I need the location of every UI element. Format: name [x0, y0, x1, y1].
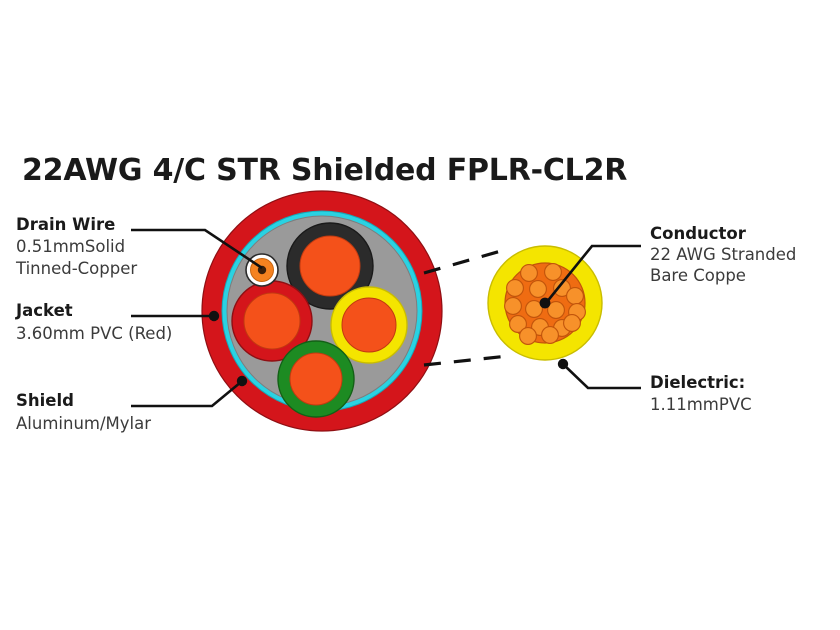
- jacket-line-1: 3.60mm PVC (Red): [16, 324, 172, 343]
- cable-cross-section-diagram: 22AWG 4/C STR Shielded FPLR-CL2R: [0, 0, 840, 630]
- jacket-leader-dot: [209, 311, 219, 321]
- callout-drain-wire: Drain Wire 0.51mmSolid Tinned-Copper: [15, 215, 137, 278]
- jacket-heading: Jacket: [15, 301, 73, 320]
- shield-line-1: Aluminum/Mylar: [16, 414, 151, 433]
- dielectric-leader: [564, 365, 641, 388]
- callout-dielectric: Dielectric: 1.11mmPVC: [650, 373, 752, 414]
- magnify-connector-top: [424, 249, 508, 273]
- cable-diagram-canvas: 22AWG 4/C STR Shielded FPLR-CL2R: [0, 0, 840, 630]
- drain-wire-line-2: Tinned-Copper: [15, 259, 137, 278]
- callout-shield: Shield Aluminum/Mylar: [16, 391, 151, 433]
- conductor-green: [278, 341, 354, 417]
- callout-jacket: Jacket 3.60mm PVC (Red): [15, 301, 172, 343]
- conductor-leader-dot: [540, 298, 551, 309]
- callout-conductor: Conductor 22 AWG Stranded Bare Coppe: [650, 224, 796, 285]
- conductor-heading: Conductor: [650, 224, 747, 243]
- main-cable-cross-section: [202, 191, 442, 431]
- shield-leader: [131, 382, 241, 406]
- dielectric-heading: Dielectric:: [650, 373, 745, 392]
- dielectric-line-1: 1.11mmPVC: [650, 395, 752, 414]
- shield-heading: Shield: [16, 391, 74, 410]
- drain-wire-heading: Drain Wire: [16, 215, 115, 234]
- dielectric-leader-dot: [558, 359, 568, 369]
- drain-wire: [246, 254, 278, 286]
- conductor-line-2: Bare Coppe: [650, 266, 746, 285]
- shield-leader-dot: [237, 376, 247, 386]
- conductor-line-1: 22 AWG Stranded: [650, 245, 796, 264]
- page-title: 22AWG 4/C STR Shielded FPLR-CL2R: [22, 153, 627, 188]
- magnify-connector-bottom: [424, 356, 508, 365]
- drain-wire-line-1: 0.51mmSolid: [16, 237, 125, 256]
